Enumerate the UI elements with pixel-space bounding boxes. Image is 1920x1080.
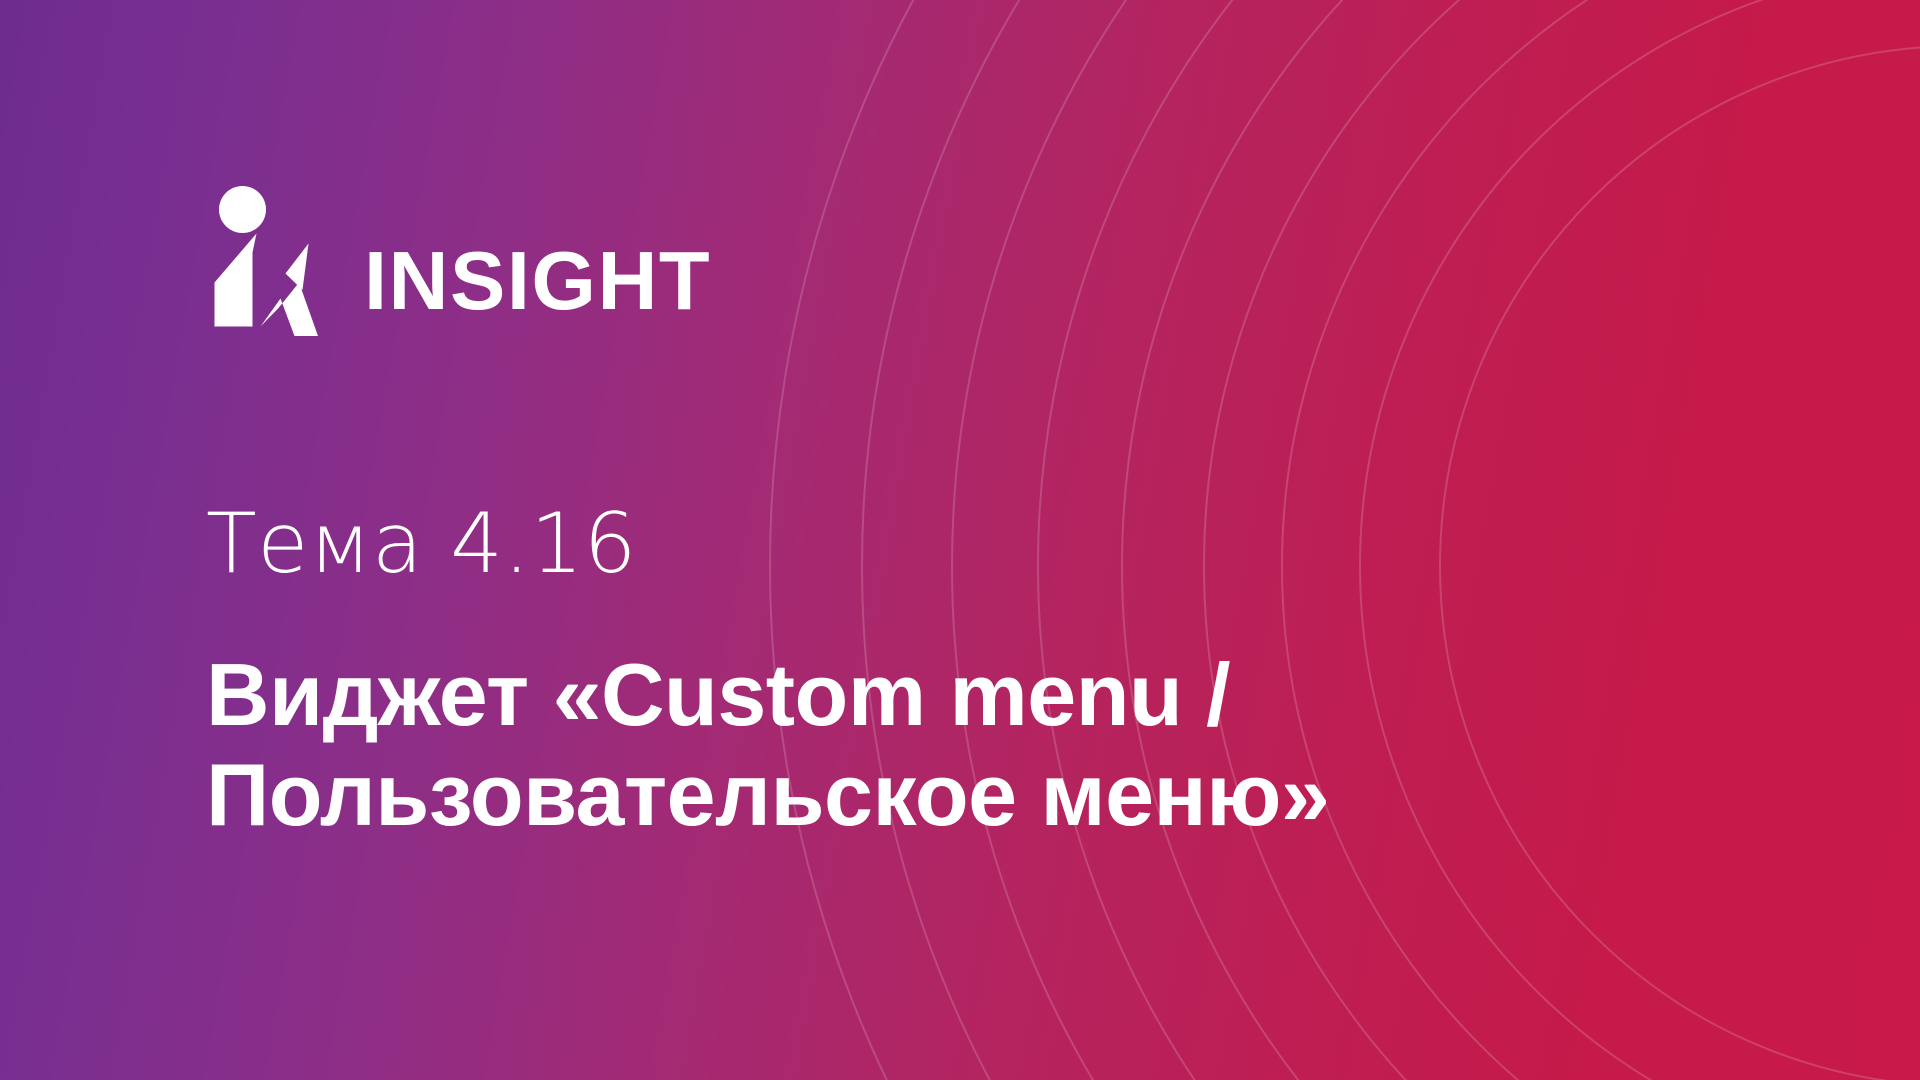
slide-title: Виджет «Custom menu / Пользовательское м… xyxy=(206,645,1806,846)
slide-title-line-1: Виджет «Custom menu / xyxy=(206,645,1806,745)
insight-wordmark: INSIGHT xyxy=(364,239,711,322)
topic-label: Тема 4.16 xyxy=(206,500,637,587)
slide-content: INSIGHT Тема 4.16 Виджет «Custom menu / … xyxy=(206,0,1766,1080)
slide-title-line-2: Пользовательское меню» xyxy=(206,745,1806,845)
title-slide: INSIGHT Тема 4.16 Виджет «Custom menu / … xyxy=(0,0,1920,1080)
insight-logo-icon xyxy=(206,186,326,336)
brand-lockup: INSIGHT xyxy=(206,186,711,336)
